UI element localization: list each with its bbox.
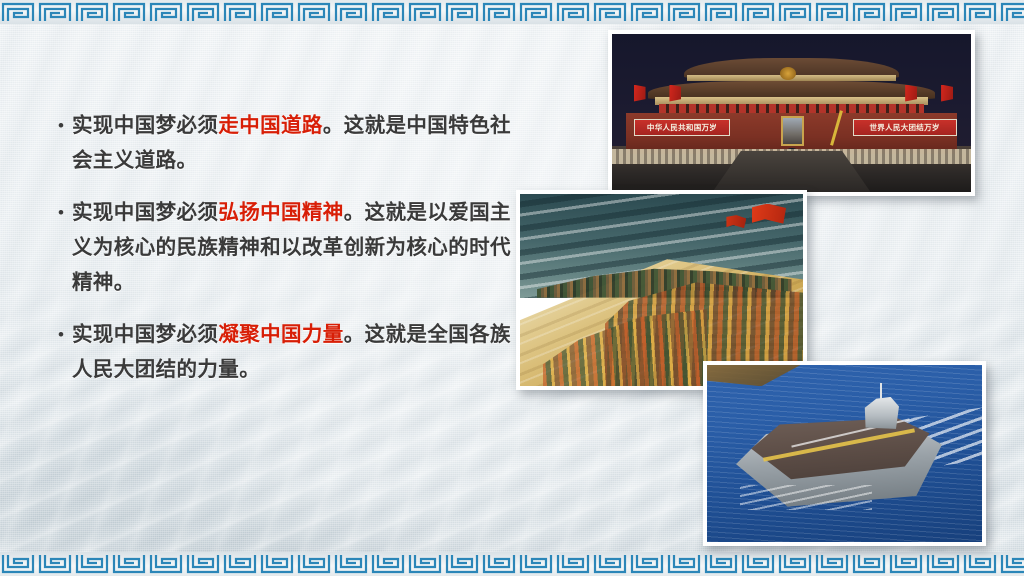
greek-key-tile-icon bbox=[777, 552, 814, 576]
greek-key-tile-icon bbox=[185, 0, 222, 24]
slogan-right: 世界人民大团结万岁 bbox=[853, 119, 957, 136]
greek-key-tile-icon bbox=[444, 0, 481, 24]
greek-key-unit bbox=[814, 0, 851, 24]
greek-key-unit bbox=[962, 552, 999, 576]
greek-key-unit bbox=[148, 0, 185, 24]
greek-key-tile-icon bbox=[851, 0, 888, 24]
greek-key-unit bbox=[259, 552, 296, 576]
photo-flood-fighting-painting[interactable] bbox=[516, 190, 807, 390]
greek-key-tile-icon bbox=[629, 0, 666, 24]
national-emblem-icon bbox=[780, 67, 796, 80]
greek-key-unit bbox=[481, 552, 518, 576]
greek-key-unit bbox=[592, 552, 629, 576]
greek-key-tile-icon bbox=[666, 0, 703, 24]
greek-key-unit bbox=[111, 552, 148, 576]
greek-key-tile-icon bbox=[407, 552, 444, 576]
bullet-item: •实现中国梦必须弘扬中国精神。这就是以爱国主义为核心的民族精神和以改革创新为核心… bbox=[58, 195, 528, 300]
greek-key-unit bbox=[629, 552, 666, 576]
greek-key-tile-icon bbox=[222, 552, 259, 576]
greek-key-tile-icon bbox=[962, 0, 999, 24]
greek-key-unit bbox=[518, 0, 555, 24]
greek-key-unit bbox=[0, 0, 37, 24]
bullet-item: •实现中国梦必须走中国道路。这就是中国特色社会主义道路。 bbox=[58, 108, 528, 178]
bullet-text-segment: 实现中国梦必须 bbox=[72, 323, 218, 346]
greek-key-unit bbox=[0, 552, 37, 576]
greek-key-unit bbox=[333, 0, 370, 24]
greek-key-tile-icon bbox=[888, 0, 925, 24]
greek-key-tile-icon bbox=[814, 552, 851, 576]
greek-key-unit bbox=[444, 552, 481, 576]
greek-key-tile-icon bbox=[925, 552, 962, 576]
greek-key-unit bbox=[740, 552, 777, 576]
greek-key-unit bbox=[444, 0, 481, 24]
greek-key-tile-icon bbox=[370, 0, 407, 24]
greek-key-unit bbox=[74, 552, 111, 576]
greek-key-unit bbox=[407, 0, 444, 24]
greek-key-tile-icon bbox=[999, 0, 1024, 24]
red-flag-icon bbox=[941, 85, 953, 102]
greek-key-unit bbox=[407, 552, 444, 576]
greek-key-tile-icon bbox=[851, 552, 888, 576]
greek-key-unit bbox=[222, 0, 259, 24]
carrier-mast bbox=[880, 383, 882, 399]
greek-key-unit bbox=[333, 552, 370, 576]
greek-key-unit bbox=[592, 0, 629, 24]
greek-key-unit bbox=[37, 0, 74, 24]
greek-key-tile-icon bbox=[74, 0, 111, 24]
greek-key-tile-icon bbox=[296, 552, 333, 576]
greek-key-tile-icon bbox=[888, 552, 925, 576]
bullet-marker-icon: • bbox=[58, 108, 72, 143]
slogan-left: 中华人民共和国万岁 bbox=[634, 119, 731, 136]
greek-key-tile-icon bbox=[111, 0, 148, 24]
greek-key-unit bbox=[185, 0, 222, 24]
greek-key-unit bbox=[703, 0, 740, 24]
greek-key-unit bbox=[37, 552, 74, 576]
greek-key-tile-icon bbox=[444, 552, 481, 576]
greek-key-tile-icon bbox=[37, 0, 74, 24]
greek-key-tile-icon bbox=[740, 0, 777, 24]
greek-key-tile-icon bbox=[148, 552, 185, 576]
greek-key-tile-icon bbox=[592, 552, 629, 576]
bottom-border-greek-key bbox=[0, 552, 1024, 576]
bullet-text: 实现中国梦必须凝聚中国力量。这就是全国各族人民大团结的力量。 bbox=[72, 317, 528, 387]
greek-key-unit bbox=[296, 0, 333, 24]
bullet-marker-icon: • bbox=[58, 195, 72, 230]
greek-key-unit bbox=[629, 0, 666, 24]
greek-key-tile-icon bbox=[555, 552, 592, 576]
greek-key-unit bbox=[999, 552, 1024, 576]
greek-key-tile-icon bbox=[0, 0, 37, 24]
greek-key-tile-icon bbox=[259, 0, 296, 24]
bullet-text: 实现中国梦必须走中国道路。这就是中国特色社会主义道路。 bbox=[72, 108, 528, 178]
greek-key-tile-icon bbox=[407, 0, 444, 24]
greek-key-tile-icon bbox=[0, 552, 37, 576]
greek-key-tile-icon bbox=[185, 552, 222, 576]
greek-key-unit bbox=[148, 552, 185, 576]
greek-key-unit bbox=[851, 0, 888, 24]
bullet-keyword-highlight: 走中国道路 bbox=[218, 114, 323, 137]
greek-key-tile-icon bbox=[370, 552, 407, 576]
bullet-marker-icon: • bbox=[58, 317, 72, 352]
greek-key-unit bbox=[370, 0, 407, 24]
greek-key-unit bbox=[111, 0, 148, 24]
greek-key-tile-icon bbox=[37, 552, 74, 576]
greek-key-unit bbox=[481, 0, 518, 24]
greek-key-unit bbox=[185, 552, 222, 576]
greek-key-unit bbox=[518, 552, 555, 576]
greek-key-unit bbox=[222, 552, 259, 576]
greek-key-unit bbox=[888, 0, 925, 24]
mao-portrait bbox=[781, 116, 804, 146]
bullet-item: •实现中国梦必须凝聚中国力量。这就是全国各族人民大团结的力量。 bbox=[58, 317, 528, 387]
greek-key-unit bbox=[999, 0, 1024, 24]
greek-key-tile-icon bbox=[555, 0, 592, 24]
bullet-text: 实现中国梦必须弘扬中国精神。这就是以爱国主义为核心的民族精神和以改革创新为核心的… bbox=[72, 195, 528, 300]
greek-key-tile-icon bbox=[703, 0, 740, 24]
greek-key-unit bbox=[370, 552, 407, 576]
greek-key-tile-icon bbox=[740, 552, 777, 576]
greek-key-tile-icon bbox=[222, 0, 259, 24]
top-border-greek-key bbox=[0, 0, 1024, 24]
bullet-text-segment: 实现中国梦必须 bbox=[72, 114, 218, 137]
bullet-keyword-highlight: 凝聚中国力量 bbox=[218, 323, 343, 346]
red-flag-icon bbox=[634, 85, 646, 102]
greek-key-tile-icon bbox=[333, 0, 370, 24]
red-flag-icon bbox=[905, 85, 917, 102]
greek-key-unit bbox=[851, 552, 888, 576]
greek-key-tile-icon bbox=[629, 552, 666, 576]
greek-key-tile-icon bbox=[666, 552, 703, 576]
bow-wave bbox=[740, 485, 872, 510]
greek-key-tile-icon bbox=[74, 552, 111, 576]
greek-key-tile-icon bbox=[777, 0, 814, 24]
greek-key-tile-icon bbox=[111, 552, 148, 576]
greek-key-tile-icon bbox=[999, 552, 1024, 576]
greek-key-tile-icon bbox=[481, 552, 518, 576]
greek-key-tile-icon bbox=[703, 552, 740, 576]
greek-key-unit bbox=[925, 552, 962, 576]
greek-key-unit bbox=[666, 552, 703, 576]
greek-key-unit bbox=[555, 552, 592, 576]
lower-roof bbox=[648, 81, 935, 98]
greek-key-tile-icon bbox=[518, 0, 555, 24]
bullet-text-segment: 实现中国梦必须 bbox=[72, 201, 218, 224]
greek-key-tile-icon bbox=[296, 0, 333, 24]
greek-key-unit bbox=[888, 552, 925, 576]
greek-key-unit bbox=[777, 0, 814, 24]
greek-key-tile-icon bbox=[148, 0, 185, 24]
greek-key-unit bbox=[296, 552, 333, 576]
greek-key-tile-icon bbox=[333, 552, 370, 576]
greek-key-unit bbox=[703, 552, 740, 576]
greek-key-tile-icon bbox=[481, 0, 518, 24]
greek-key-unit bbox=[666, 0, 703, 24]
greek-key-tile-icon bbox=[592, 0, 629, 24]
greek-key-unit bbox=[259, 0, 296, 24]
greek-key-tile-icon bbox=[962, 552, 999, 576]
greek-key-unit bbox=[962, 0, 999, 24]
bullet-keyword-highlight: 弘扬中国精神 bbox=[218, 201, 343, 224]
bullet-list: •实现中国梦必须走中国道路。这就是中国特色社会主义道路。•实现中国梦必须弘扬中国… bbox=[58, 108, 528, 404]
greek-key-tile-icon bbox=[518, 552, 555, 576]
greek-key-unit bbox=[555, 0, 592, 24]
photo-tiananmen-gate[interactable]: 中华人民共和国万岁 世界人民大团结万岁 bbox=[608, 30, 975, 196]
greek-key-unit bbox=[740, 0, 777, 24]
greek-key-unit bbox=[74, 0, 111, 24]
greek-key-unit bbox=[814, 552, 851, 576]
greek-key-unit bbox=[777, 552, 814, 576]
greek-key-tile-icon bbox=[814, 0, 851, 24]
photo-aircraft-carrier[interactable] bbox=[703, 361, 986, 546]
slide-canvas: •实现中国梦必须走中国道路。这就是中国特色社会主义道路。•实现中国梦必须弘扬中国… bbox=[0, 0, 1024, 576]
greek-key-tile-icon bbox=[925, 0, 962, 24]
red-flag-icon bbox=[669, 85, 681, 102]
greek-key-unit bbox=[925, 0, 962, 24]
greek-key-tile-icon bbox=[259, 552, 296, 576]
